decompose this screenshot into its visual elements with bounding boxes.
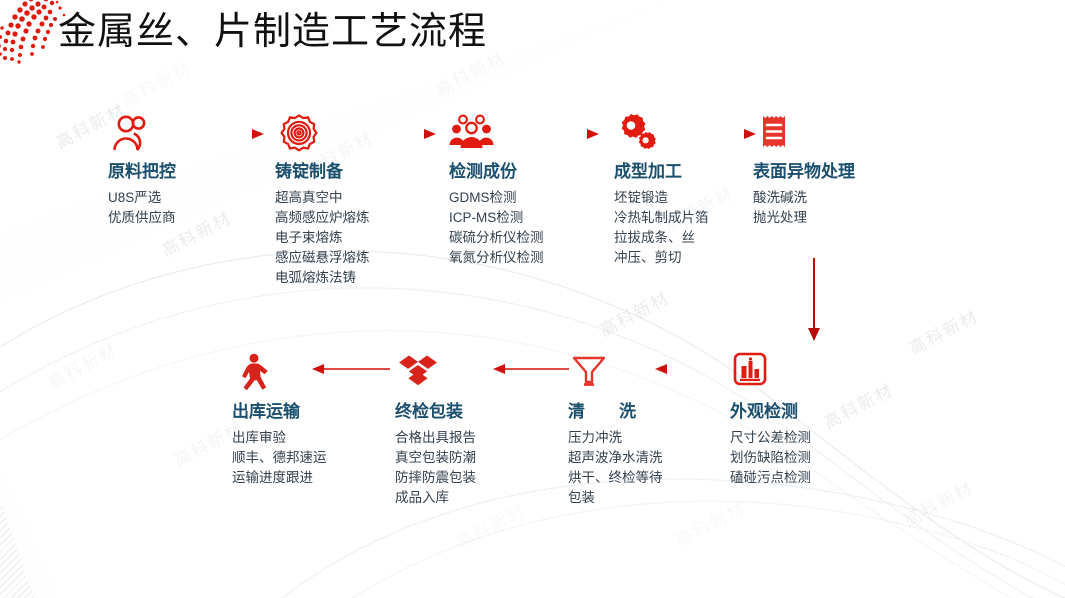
- detail-line: 出库审验: [232, 428, 327, 448]
- detail-line: 超高真空中: [275, 188, 370, 208]
- step-title: 表面异物处理: [753, 160, 855, 184]
- detail-line: 运输进度跟进: [232, 468, 327, 488]
- step-title: 终检包装: [395, 400, 476, 424]
- step-title: 外观检测: [730, 400, 811, 424]
- step-detail-list: 压力冲洗 超声波净水清洗 烘干、终检等待包装: [568, 428, 673, 508]
- detail-line: 真空包装防潮: [395, 448, 476, 468]
- detail-line: 电弧熔炼法铸: [275, 268, 370, 288]
- arrow-3-4: [525, 128, 603, 140]
- step-detail-list: U8S严选 优质供应商: [108, 188, 176, 228]
- detail-line: 酸洗碱洗: [753, 188, 855, 208]
- detail-line: ICP-MS检测: [449, 208, 544, 228]
- detail-line: 碳硫分析仪检测: [449, 228, 544, 248]
- step-title: 清 洗: [568, 400, 673, 424]
- detail-line: 顺丰、德邦速运: [232, 448, 327, 468]
- flow-node-step-2[interactable]: 铸锭制备 超高真空中 高频感应炉熔炼 电子束熔炼 感应磁悬浮熔炼 电弧熔炼法铸: [275, 112, 370, 288]
- detail-line: U8S严选: [108, 188, 176, 208]
- step-detail-list: 出库审验 顺丰、德邦速运 运输进度跟进: [232, 428, 327, 488]
- step-detail-list: GDMS检测 ICP-MS检测 碳硫分析仪检测 氧氮分析仪检测: [449, 188, 544, 268]
- flow-node-step-8[interactable]: 终检包装 合格出具报告 真空包装防潮 防摔防震包装 成品入库: [395, 352, 476, 508]
- watermark: 高科新材: [671, 494, 750, 552]
- watermark: 高科新材: [117, 54, 196, 112]
- detail-line: 烘干、终检等待包装: [568, 468, 673, 508]
- step-detail-list: 超高真空中 高频感应炉熔炼 电子束熔炼 感应磁悬浮熔炼 电弧熔炼法铸: [275, 188, 370, 288]
- watermark: 高科新材: [43, 336, 122, 394]
- step-detail-list: 酸洗碱洗 抛光处理: [753, 188, 855, 228]
- detail-line: 磕碰污点检测: [730, 468, 811, 488]
- detail-line: 优质供应商: [108, 208, 176, 228]
- detail-line: 超声波净水清洗: [568, 448, 673, 468]
- watermark: 高科新材: [904, 302, 983, 360]
- slide-canvas: 高科新材 高科新材 高科新材 高科新材 高科新材 高科新材 高科新材 高科新材 …: [0, 0, 1065, 598]
- detail-line: 冲压、剪切: [614, 248, 709, 268]
- watermark: 高科新材: [899, 474, 978, 532]
- detail-line: 抛光处理: [753, 208, 855, 228]
- background-stripe-pattern: [0, 0, 1065, 598]
- detail-line: 防摔防震包装: [395, 468, 476, 488]
- detail-line: 成品入库: [395, 488, 476, 508]
- flow-node-step-6[interactable]: 外观检测 尺寸公差检测 划伤缺陷检测 磕碰污点检测: [730, 352, 811, 488]
- step-title: 检测成份: [449, 160, 544, 184]
- arrow-6-7: [655, 363, 733, 375]
- step-detail-list: 尺寸公差检测 划伤缺陷检测 磕碰污点检测: [730, 428, 811, 488]
- arrow-4-5: [682, 128, 760, 140]
- flow-node-step-1[interactable]: 原料把控 U8S严选 优质供应商: [108, 112, 176, 228]
- background-wedge-middle: [0, 0, 1065, 598]
- detail-line: 尺寸公差检测: [730, 428, 811, 448]
- arrow-7-8: [493, 363, 571, 375]
- watermark: 高科新材: [595, 284, 674, 342]
- detail-line: 划伤缺陷检测: [730, 448, 811, 468]
- watermark: 高科新材: [819, 376, 898, 434]
- detail-line: 拉拔成条、丝: [614, 228, 709, 248]
- open-box-solid-icon: [395, 352, 476, 398]
- gear-outline-icon: [275, 112, 370, 158]
- step-title: 出库运输: [232, 400, 327, 424]
- detail-line: 冷热轧制成片箔: [614, 208, 709, 228]
- background-wedge-bottom: [0, 0, 1065, 598]
- detail-line: 合格出具报告: [395, 428, 476, 448]
- funnel-outline-icon: [568, 352, 673, 398]
- step-detail-list: 合格出具报告 真空包装防潮 防摔防震包装 成品入库: [395, 428, 476, 508]
- arrow-8-9: [312, 363, 392, 375]
- detail-line: GDMS检测: [449, 188, 544, 208]
- arrow-2-3: [362, 128, 440, 140]
- step-title: 原料把控: [108, 160, 176, 184]
- flow-node-step-7[interactable]: 清 洗 压力冲洗 超声波净水清洗 烘干、终检等待包装: [568, 352, 673, 508]
- page-title: 金属丝、片制造工艺流程: [58, 6, 487, 58]
- detail-line: 感应磁悬浮熔炼: [275, 248, 370, 268]
- step-title: 成型加工: [614, 160, 709, 184]
- detail-line: 电子束熔炼: [275, 228, 370, 248]
- step-detail-list: 坯锭锻造 冷热轧制成片箔 拉拔成条、丝 冲压、剪切: [614, 188, 709, 268]
- inspection-box-icon: [730, 352, 811, 398]
- detail-line: 氧氮分析仪检测: [449, 248, 544, 268]
- detail-line: 压力冲洗: [568, 428, 673, 448]
- detail-line: 高频感应炉熔炼: [275, 208, 370, 228]
- flow-node-step-5[interactable]: 表面异物处理 酸洗碱洗 抛光处理: [753, 112, 855, 228]
- detail-line: 坯锭锻造: [614, 188, 709, 208]
- walking-person-icon: [232, 352, 327, 398]
- two-people-outline-icon: [108, 112, 176, 158]
- step-title: 铸锭制备: [275, 160, 370, 184]
- arrow-5-6: [807, 258, 821, 342]
- arrow-1-2: [190, 128, 268, 140]
- document-lines-solid-icon: [753, 112, 855, 158]
